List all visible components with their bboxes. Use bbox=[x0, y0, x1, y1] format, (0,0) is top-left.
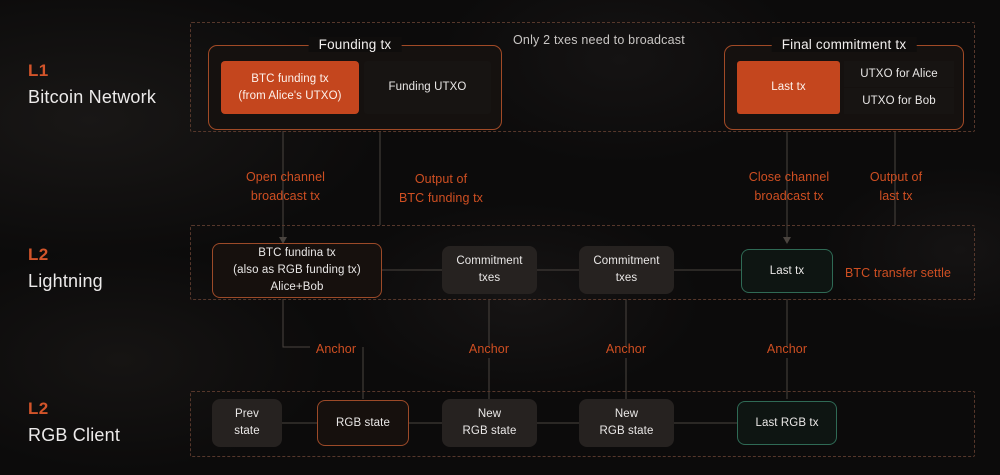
box-new-rgb-state-1[interactable]: New RGB state bbox=[442, 399, 537, 447]
box-last-rgb-tx[interactable]: Last RGB tx bbox=[737, 401, 837, 445]
box-prev-state[interactable]: Prev state bbox=[212, 399, 282, 447]
box-line-2: RGB state bbox=[463, 423, 517, 440]
layer-name: Lightning bbox=[28, 272, 103, 292]
label-anchor-2: Anchor bbox=[453, 340, 525, 359]
label-line-2: broadcast tx bbox=[223, 187, 348, 206]
box-utxo-for-alice[interactable]: UTXO for Alice bbox=[844, 61, 954, 87]
label-output-of-btc-funding-tx: Output of BTC funding tx bbox=[370, 170, 512, 208]
box-line-3: Alice+Bob bbox=[270, 279, 323, 296]
label-open-channel-broadcast-tx: Open channel broadcast tx bbox=[223, 168, 348, 206]
box-line-2: (also as RGB funding tx) bbox=[233, 262, 361, 279]
box-commitment-txes-2[interactable]: Commitment txes bbox=[579, 246, 674, 294]
box-line-1: Commitment bbox=[593, 253, 659, 270]
label-line-2: last tx bbox=[850, 187, 942, 206]
box-line-1: Last tx bbox=[770, 263, 805, 280]
label-line-1: Output of bbox=[850, 168, 942, 187]
box-line-1: BTC fundina tx bbox=[258, 245, 335, 262]
box-line-1: Commitment bbox=[456, 253, 522, 270]
label-line-2: broadcast tx bbox=[727, 187, 851, 206]
box-last-tx-l1[interactable]: Last tx bbox=[737, 61, 840, 114]
box-line-1: BTC funding tx bbox=[251, 71, 328, 88]
label-anchor-3: Anchor bbox=[590, 340, 662, 359]
label-close-channel-broadcast-tx: Close channel broadcast tx bbox=[727, 168, 851, 206]
box-rgb-state[interactable]: RGB state bbox=[317, 400, 409, 446]
box-line-1: Funding UTXO bbox=[389, 79, 467, 96]
label-anchor-1: Anchor bbox=[300, 340, 372, 359]
box-btc-funding-tx[interactable]: BTC funding tx (from Alice's UTXO) bbox=[221, 61, 359, 114]
box-line-2: (from Alice's UTXO) bbox=[238, 88, 341, 105]
box-line-1: New bbox=[478, 406, 501, 423]
box-funding-utxo[interactable]: Funding UTXO bbox=[364, 61, 491, 114]
group-founding-tx: Founding tx BTC funding tx (from Alice's… bbox=[208, 45, 502, 130]
label-anchor-4: Anchor bbox=[751, 340, 823, 359]
label-output-of-last-tx: Output of last tx bbox=[850, 168, 942, 206]
box-line-2: state bbox=[234, 423, 259, 440]
group-final-commitment-tx: Final commitment tx Last tx UTXO for Ali… bbox=[724, 45, 964, 130]
layer-tag: L1 bbox=[28, 62, 156, 79]
label-btc-transfer-settle: BTC transfer settle bbox=[845, 264, 995, 283]
box-line-1: Last RGB tx bbox=[755, 415, 818, 432]
layer-label-l1: L1 Bitcoin Network bbox=[28, 62, 156, 108]
layer-name: RGB Client bbox=[28, 426, 120, 446]
layer-label-l2-rgb: L2 RGB Client bbox=[28, 400, 120, 446]
group-title-final-commitment-tx: Final commitment tx bbox=[772, 37, 917, 52]
label-line-1: Open channel bbox=[223, 168, 348, 187]
box-line-1: New bbox=[615, 406, 638, 423]
group-title-founding-tx: Founding tx bbox=[309, 37, 402, 52]
box-line-2: RGB state bbox=[600, 423, 654, 440]
layer-tag: L2 bbox=[28, 246, 103, 263]
box-utxo-for-bob[interactable]: UTXO for Bob bbox=[844, 88, 954, 114]
box-line-1: RGB state bbox=[336, 415, 390, 432]
label-line-1: Close channel bbox=[727, 168, 851, 187]
layer-tag: L2 bbox=[28, 400, 120, 417]
box-line-1: UTXO for Alice bbox=[860, 66, 937, 83]
box-line-2: txes bbox=[616, 270, 638, 287]
box-last-tx-l2[interactable]: Last tx bbox=[741, 249, 833, 293]
label-line-2: BTC funding tx bbox=[370, 189, 512, 208]
box-line-2: txes bbox=[479, 270, 501, 287]
box-commitment-txes-1[interactable]: Commitment txes bbox=[442, 246, 537, 294]
box-line-1: Prev bbox=[235, 406, 259, 423]
layer-label-l2-lightning: L2 Lightning bbox=[28, 246, 103, 292]
layer-name: Bitcoin Network bbox=[28, 88, 156, 108]
broadcast-note: Only 2 txes need to broadcast bbox=[513, 33, 685, 47]
diagram-canvas: L1 Bitcoin Network L2 Lightning L2 RGB C… bbox=[0, 0, 1000, 475]
box-new-rgb-state-2[interactable]: New RGB state bbox=[579, 399, 674, 447]
box-btc-funding-tx-l2[interactable]: BTC fundina tx (also as RGB funding tx) … bbox=[212, 243, 382, 298]
box-line-1: UTXO for Bob bbox=[862, 93, 935, 110]
box-line-1: Last tx bbox=[771, 79, 806, 96]
label-line-1: Output of bbox=[370, 170, 512, 189]
